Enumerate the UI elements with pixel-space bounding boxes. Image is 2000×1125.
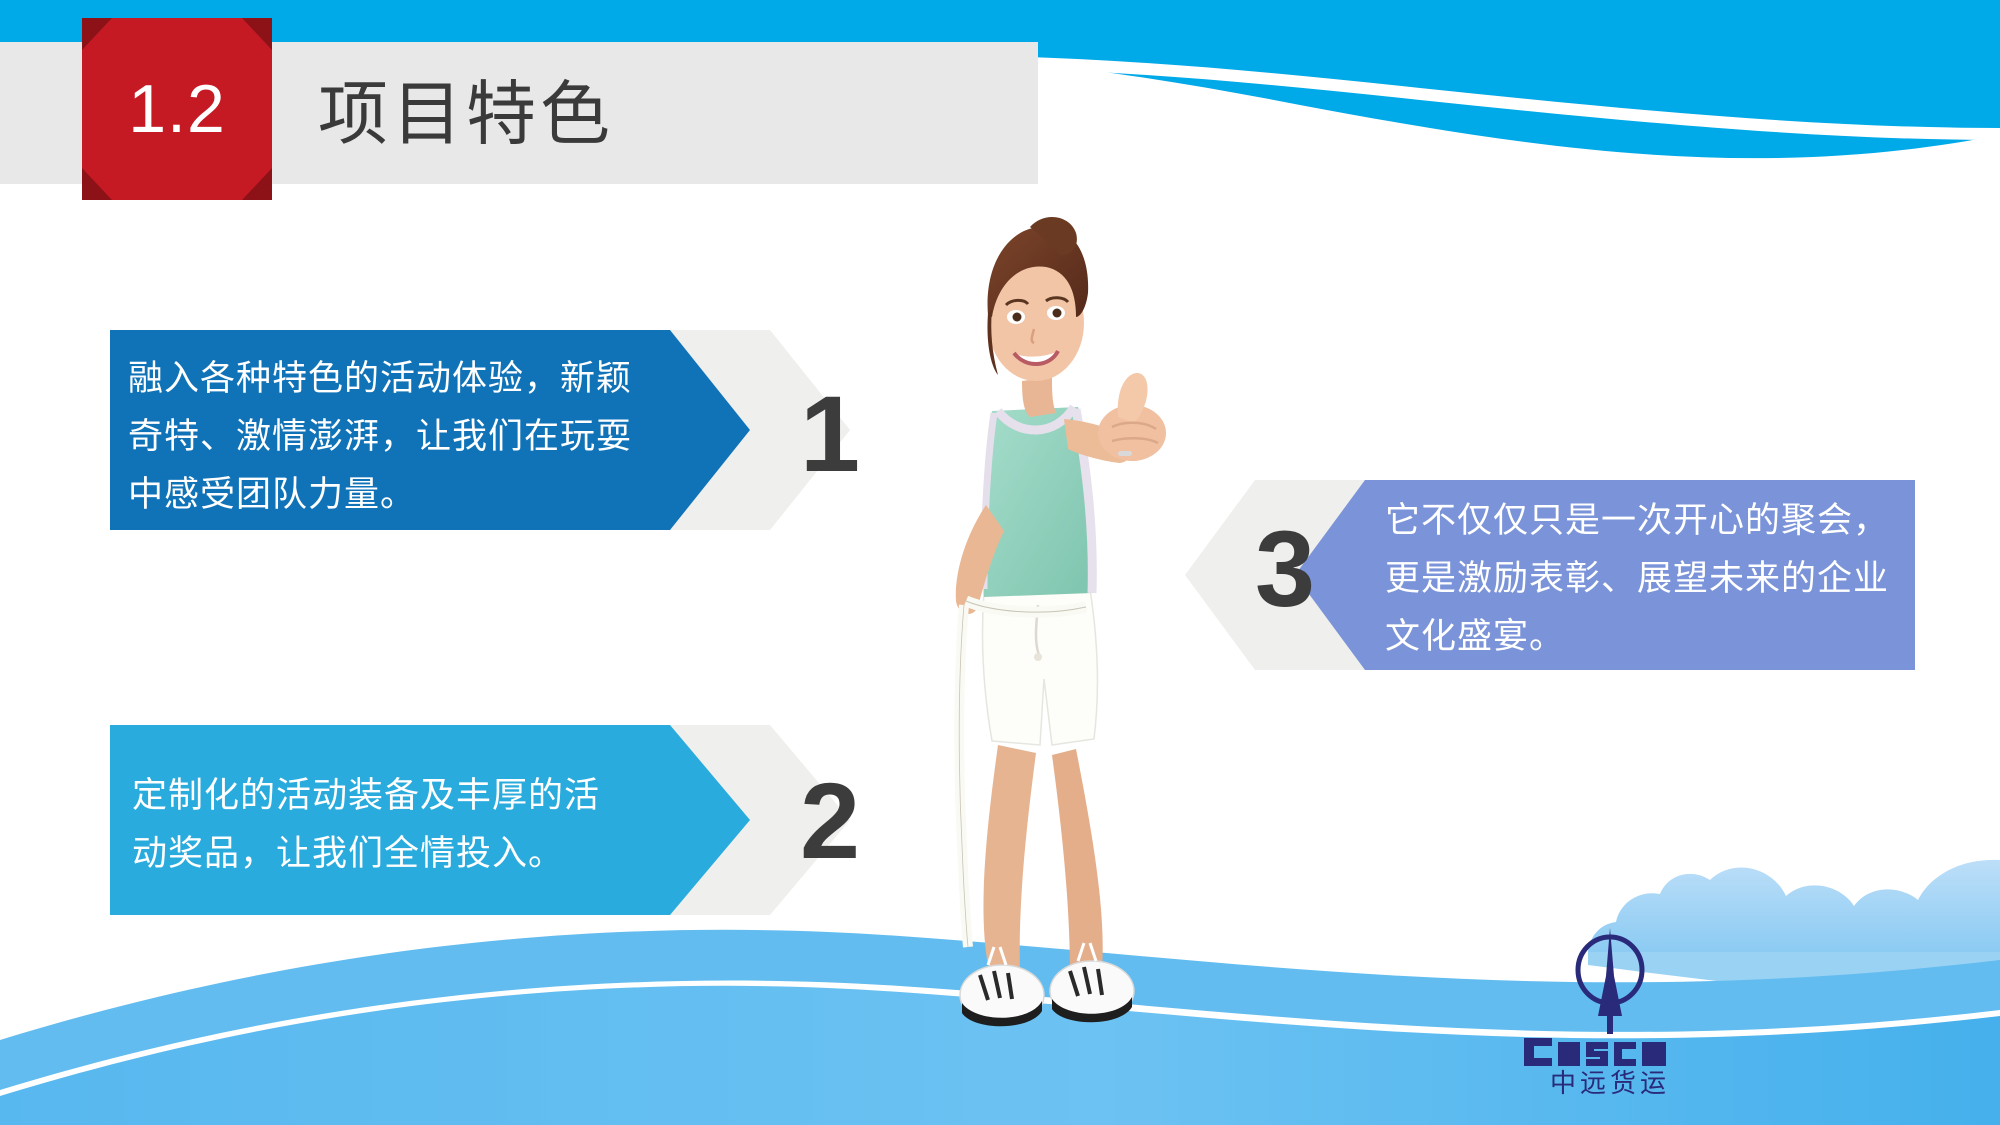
callout-3-number: 3 <box>1225 515 1345 623</box>
photo-woman-thumbs-up <box>880 205 1220 1045</box>
callout-2-text: 定制化的活动装备及丰厚的活动奖品，让我们全情投入。 <box>132 767 632 883</box>
callout-box-2[interactable]: 定制化的活动装备及丰厚的活动奖品，让我们全情投入。 2 <box>110 725 850 915</box>
cosco-logo-mark: 中远货运 <box>1500 920 1720 1100</box>
callout-2-number: 2 <box>770 767 890 875</box>
thumbs-up-hand <box>1098 373 1166 461</box>
callout-1-number: 1 <box>770 380 890 488</box>
cosco-logo: 中远货运 <box>1500 920 1720 1100</box>
section-number: 1.2 <box>82 18 272 200</box>
callout-box-3[interactable]: 它不仅仅只是一次开心的聚会，更是激励表彰、展望未来的企业文化盛宴。 3 <box>1185 480 1915 670</box>
slide-canvas: 1.2 项目特色 <box>0 0 2000 1125</box>
callout-box-1[interactable]: 融入各种特色的活动体验，新颖奇特、激情澎湃，让我们在玩耍中感受团队力量。 1 <box>110 330 850 530</box>
cosco-wordmark <box>1524 1038 1666 1066</box>
page-title: 项目特色 <box>318 55 978 173</box>
cosco-logo-cn-label: 中远货运 <box>1550 1068 1670 1098</box>
callout-3-text: 它不仅仅只是一次开心的聚会，更是激励表彰、展望未来的企业文化盛宴。 <box>1385 492 1895 666</box>
callout-1-text: 融入各种特色的活动体验，新颖奇特、激情澎湃，让我们在玩耍中感受团队力量。 <box>128 350 638 524</box>
